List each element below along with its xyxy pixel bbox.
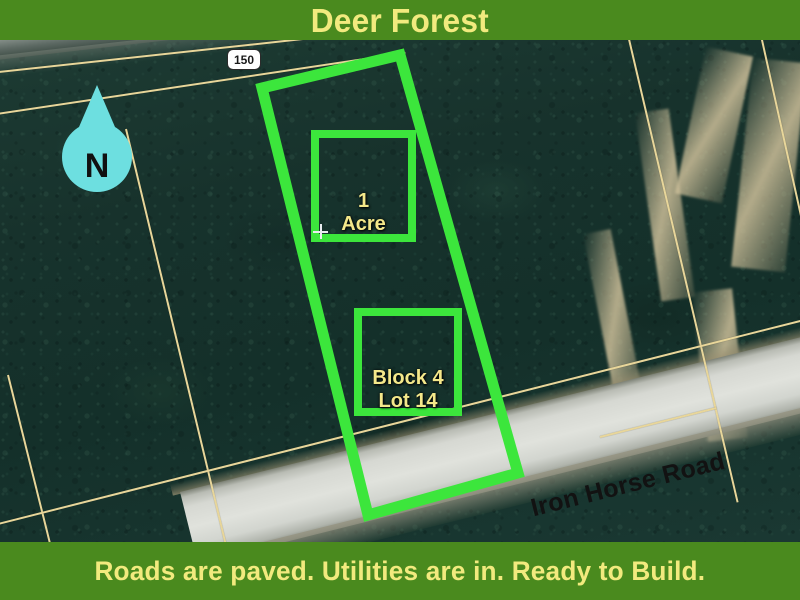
acre-callout-label: 1 Acre bbox=[315, 190, 412, 236]
block-number: Block 4 bbox=[372, 367, 443, 389]
highway-shield-icon[interactable]: 150 bbox=[227, 49, 261, 70]
page-title: Deer Forest bbox=[311, 4, 489, 37]
acre-value: 1 bbox=[358, 190, 369, 212]
north-arrow-icon bbox=[61, 83, 133, 195]
subject-parcel-boundary[interactable] bbox=[262, 55, 518, 515]
title-banner: Deer Forest bbox=[0, 0, 800, 40]
highway-route-number: 150 bbox=[234, 54, 254, 66]
crosshair-marker-icon bbox=[313, 224, 328, 239]
footer-banner: Roads are paved. Utilities are in. Ready… bbox=[0, 542, 800, 600]
lot-number: Lot 14 bbox=[379, 390, 438, 412]
aerial-map[interactable]: 1 Acre Block 4 Lot 14 150 N Iron Horse R… bbox=[0, 40, 800, 542]
listing-image: Deer Forest bbox=[0, 0, 800, 600]
acre-unit: Acre bbox=[341, 213, 385, 235]
footer-tagline: Roads are paved. Utilities are in. Ready… bbox=[95, 558, 706, 585]
block-lot-callout-label: Block 4 Lot 14 bbox=[358, 367, 458, 413]
